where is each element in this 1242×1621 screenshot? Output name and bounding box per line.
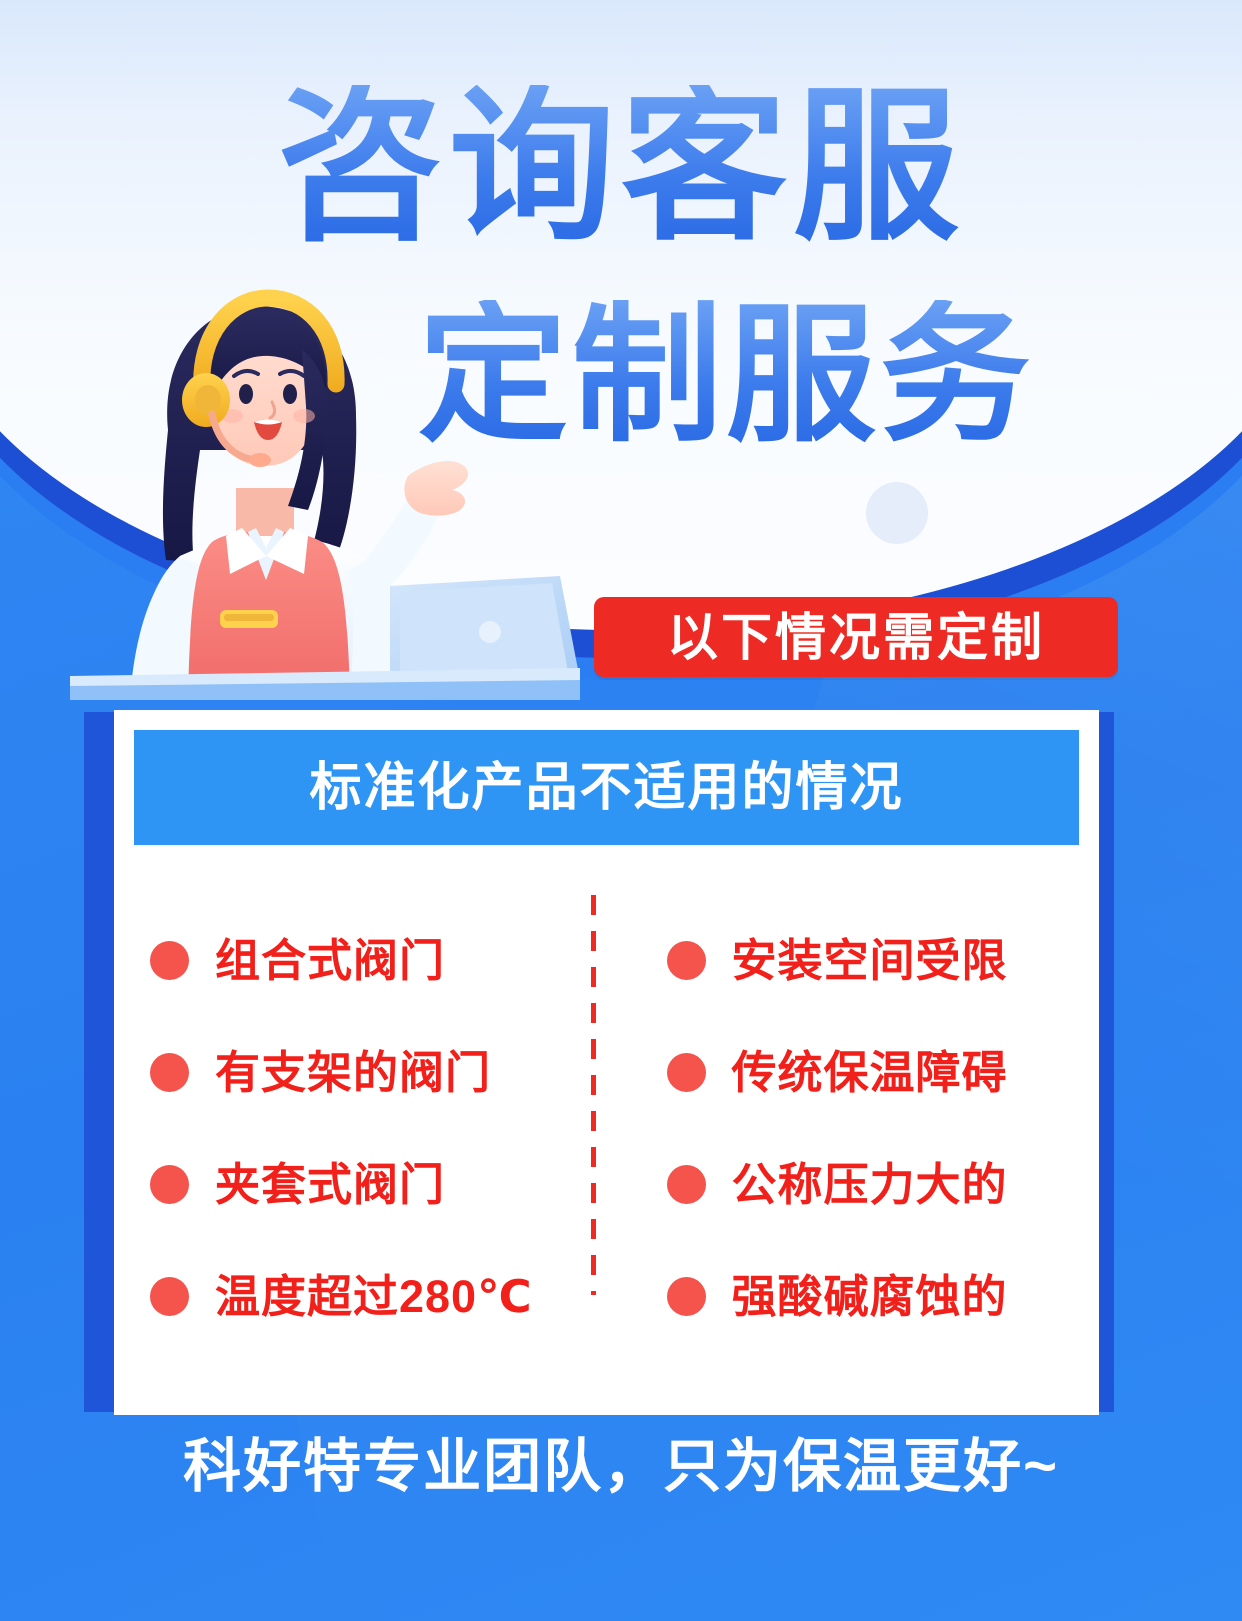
bullet-dot-icon xyxy=(667,1277,706,1316)
banner-label: 以下情况需定制 xyxy=(667,612,1045,663)
bullet-dot-icon xyxy=(150,1277,189,1316)
list-item-label: 有支架的阀门 xyxy=(215,1050,491,1095)
list-item-label: 公称压力大的 xyxy=(732,1162,1008,1207)
card-header: 标准化产品不适用的情况 xyxy=(134,730,1079,845)
list-item: 有支架的阀门 xyxy=(150,1016,607,1128)
bullet-dot-icon xyxy=(667,941,706,980)
list-item-label: 传统保温障碍 xyxy=(732,1050,1008,1095)
conditions-card: 标准化产品不适用的情况 组合式阀门 有支架的阀门 夹套式阀门 温度超 xyxy=(114,710,1099,1415)
list-item-label: 强酸碱腐蚀的 xyxy=(732,1274,1008,1319)
footer-tagline: 科好特专业团队，只为保温更好~ xyxy=(0,1438,1242,1496)
list-item-label: 安装空间受限 xyxy=(732,938,1008,983)
bullet-dot-icon xyxy=(667,1053,706,1092)
decorative-circle xyxy=(866,482,928,544)
page-title-line-1: 咨询客服 xyxy=(0,85,1242,251)
card-header-label: 标准化产品不适用的情况 xyxy=(309,762,903,814)
conditions-column-left: 组合式阀门 有支架的阀门 夹套式阀门 温度超过280℃ xyxy=(114,860,607,1380)
list-item-label: 夹套式阀门 xyxy=(215,1162,445,1207)
list-item: 强酸碱腐蚀的 xyxy=(667,1240,1100,1352)
customer-service-agent-illustration xyxy=(60,280,580,700)
conditions-list: 组合式阀门 有支架的阀门 夹套式阀门 温度超过280℃ 安 xyxy=(114,860,1099,1380)
list-item: 传统保温障碍 xyxy=(667,1016,1100,1128)
list-item: 夹套式阀门 xyxy=(150,1128,607,1240)
list-item: 温度超过280℃ xyxy=(150,1240,607,1352)
column-dashed-divider xyxy=(591,895,596,1295)
list-item: 公称压力大的 xyxy=(667,1128,1100,1240)
conditions-column-right: 安装空间受限 传统保温障碍 公称压力大的 强酸碱腐蚀的 xyxy=(607,860,1100,1380)
bullet-dot-icon xyxy=(667,1165,706,1204)
list-item-label: 温度超过280℃ xyxy=(215,1274,533,1319)
status-badge-customization-notice: 以下情况需定制 xyxy=(594,597,1118,677)
poster-stage: 咨询客服 定制服务 xyxy=(0,0,1242,1621)
list-item: 安装空间受限 xyxy=(667,904,1100,1016)
bullet-dot-icon xyxy=(150,941,189,980)
bullet-dot-icon xyxy=(150,1053,189,1092)
list-item-label: 组合式阀门 xyxy=(215,938,445,983)
bullet-dot-icon xyxy=(150,1165,189,1204)
list-item: 组合式阀门 xyxy=(150,904,607,1016)
